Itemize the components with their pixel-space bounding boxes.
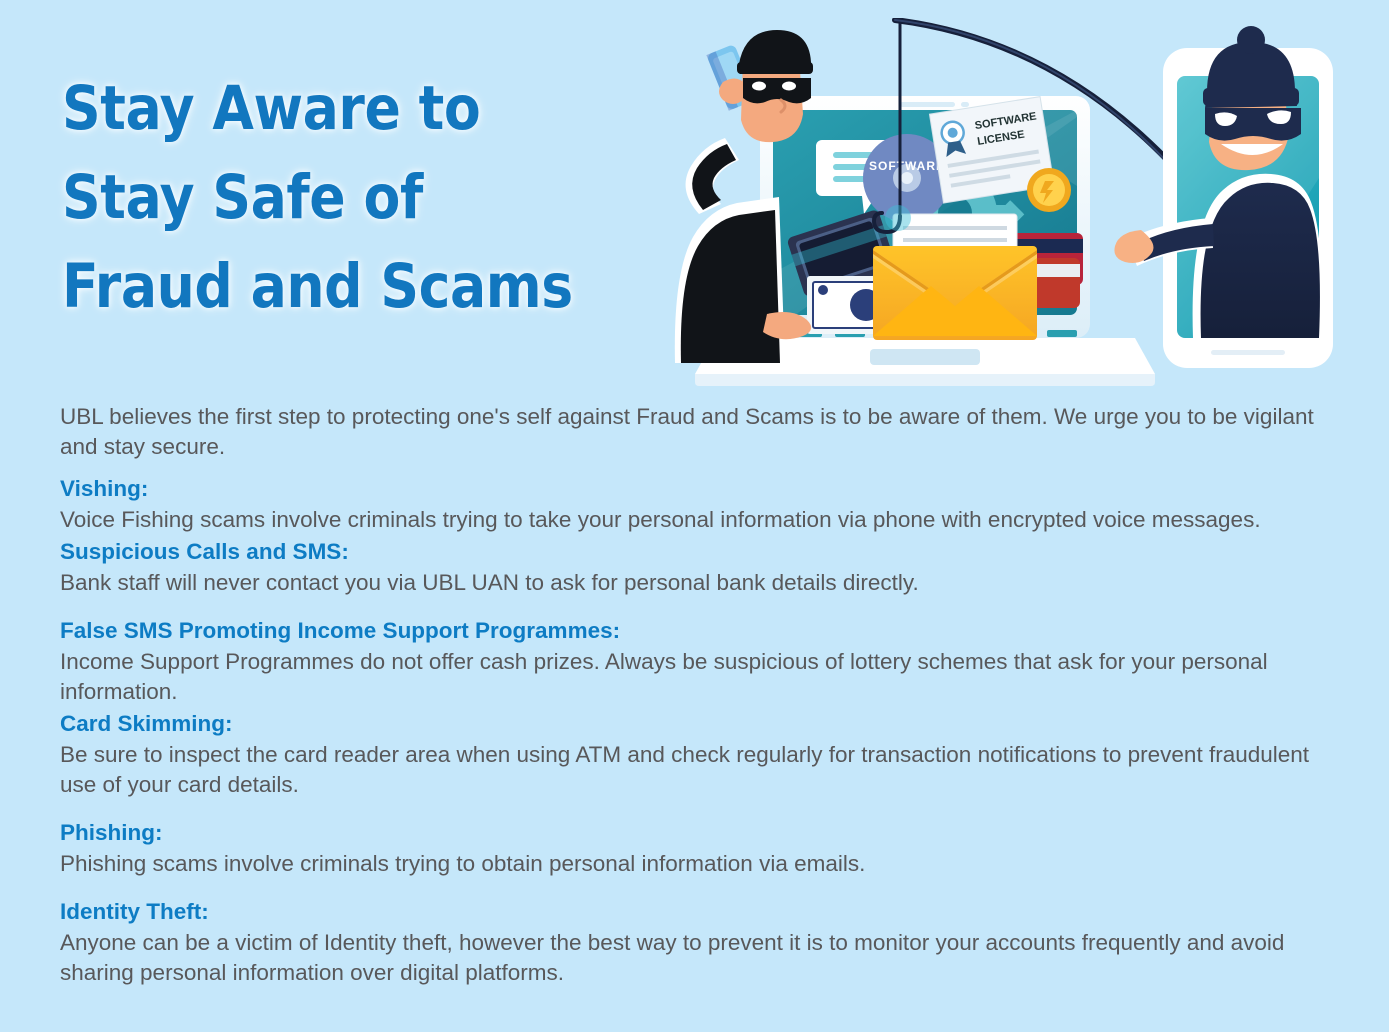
section-heading: Identity Theft:: [60, 895, 1335, 928]
fraud-illustration: SOFTWARE SOFTWARE LICENSE: [655, 18, 1355, 390]
section-heading: Vishing:: [60, 472, 1335, 505]
section-text: Voice Fishing scams involve criminals tr…: [60, 505, 1335, 535]
email-envelope-icon: [873, 214, 1037, 340]
hero-section: Stay Aware to Stay Safe of Fraud and Sca…: [0, 0, 1389, 392]
section-text: Income Support Programmes do not offer c…: [60, 647, 1335, 707]
title-line-3: Fraud and Scams: [62, 242, 625, 331]
section-identity-theft: Identity Theft: Anyone can be a victim o…: [60, 895, 1335, 988]
coin-icon: [1027, 168, 1071, 212]
illustration-svg: SOFTWARE SOFTWARE LICENSE: [655, 18, 1355, 390]
section-text: Be sure to inspect the card reader area …: [60, 740, 1335, 800]
section-heading: Suspicious Calls and SMS:: [60, 535, 1335, 568]
section-card-skimming: Card Skimming: Be sure to inspect the ca…: [60, 707, 1335, 800]
intro-paragraph: UBL believes the first step to protectin…: [60, 402, 1335, 462]
cd-label: SOFTWARE: [869, 159, 945, 173]
page-title: Stay Aware to Stay Safe of Fraud and Sca…: [62, 64, 625, 331]
title-line-1: Stay Aware to: [62, 64, 625, 153]
section-false-sms-income-support: False SMS Promoting Income Support Progr…: [60, 614, 1335, 707]
title-line-2: Stay Safe of: [62, 153, 625, 242]
section-heading: False SMS Promoting Income Support Progr…: [60, 614, 1335, 647]
body-copy: UBL believes the first step to protectin…: [60, 402, 1335, 988]
fraud-awareness-poster: Stay Aware to Stay Safe of Fraud and Sca…: [0, 0, 1389, 1032]
section-suspicious-calls-and-sms: Suspicious Calls and SMS: Bank staff wil…: [60, 535, 1335, 598]
section-text: Bank staff will never contact you via UB…: [60, 568, 1335, 598]
section-heading: Card Skimming:: [60, 707, 1335, 740]
section-text: Phishing scams involve criminals trying …: [60, 849, 1335, 879]
section-vishing: Vishing: Voice Fishing scams involve cri…: [60, 472, 1335, 535]
section-text: Anyone can be a victim of Identity theft…: [60, 928, 1335, 988]
section-heading: Phishing:: [60, 816, 1335, 849]
smartphone-with-thief-figure: [1114, 26, 1333, 368]
section-phishing: Phishing: Phishing scams involve crimina…: [60, 816, 1335, 879]
